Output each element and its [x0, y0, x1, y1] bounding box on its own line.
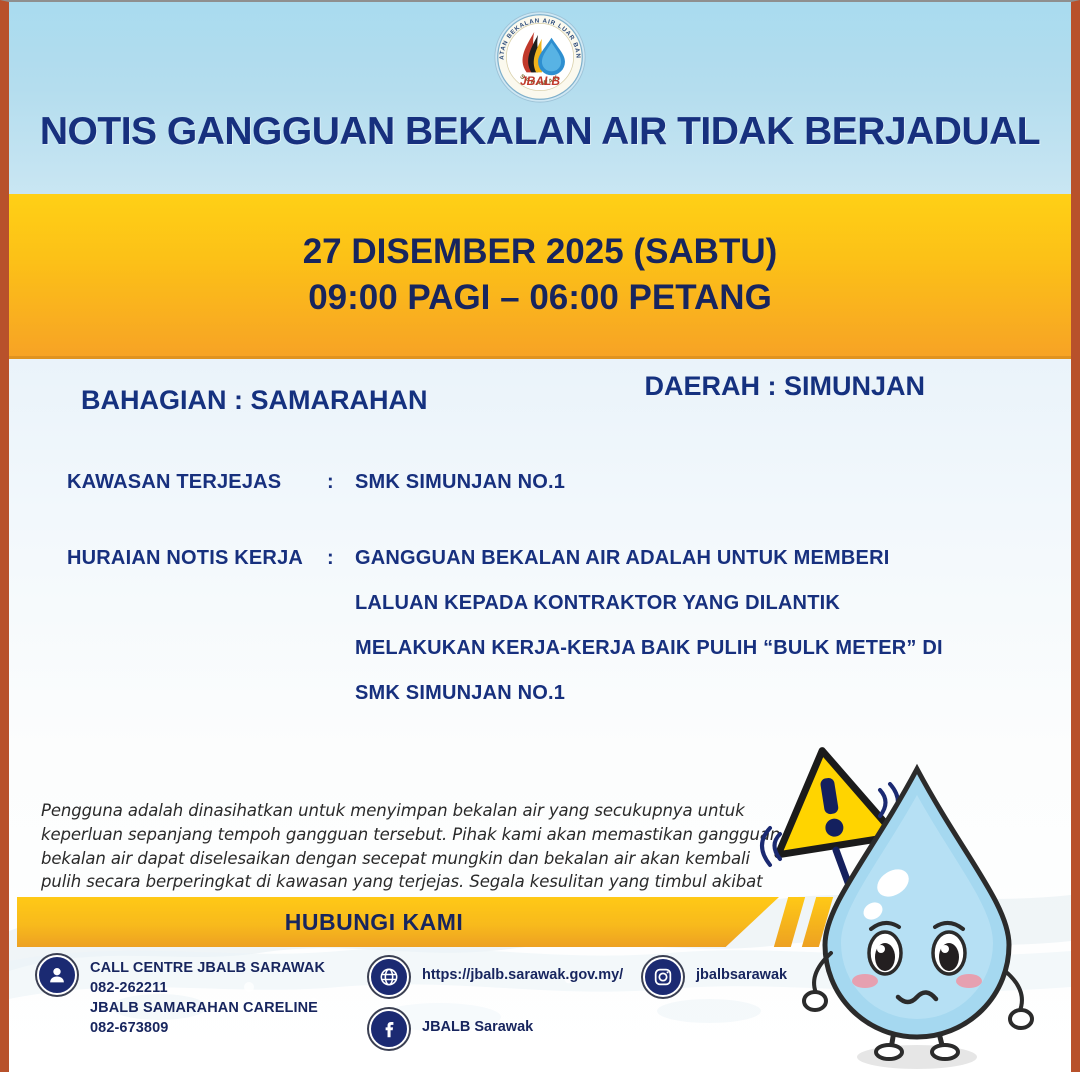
instagram-handle: jbalbsarawak	[696, 957, 787, 983]
work-description-line-2: LALUAN KEPADA KONTRAKTOR YANG DILANTIK	[355, 592, 943, 615]
banner-accent-slash-1	[774, 897, 805, 947]
jbalb-seal-logo: JABATAN BEKALAN AIR LUAR BANDAR SARAWAK …	[492, 8, 588, 106]
affected-area-value: SMK SIMUNJAN NO.1	[355, 471, 565, 494]
globe-icon	[369, 957, 409, 997]
page-title: NOTIS GANGGUAN BEKALAN AIR TIDAK BERJADU…	[9, 110, 1071, 154]
work-description-colon: :	[327, 547, 355, 705]
contact-facebook[interactable]: JBALB Sarawak	[369, 1009, 533, 1049]
contact-instagram[interactable]: jbalbsarawak	[643, 957, 787, 997]
facebook-name: JBALB Sarawak	[422, 1009, 533, 1035]
affected-area-colon: :	[327, 471, 355, 494]
work-description-value-group: GANGGUAN BEKALAN AIR ADALAH UNTUK MEMBER…	[355, 547, 943, 705]
svg-text:JBALB: JBALB	[520, 74, 560, 88]
contact-banner-title: HUBUNGI KAMI	[285, 909, 464, 936]
affected-area-row: KAWASAN TERJEJAS : SMK SIMUNJAN NO.1	[67, 471, 565, 494]
work-description-line-3: MELAKUKAN KERJA-KERJA BAIK PULIH “BULK M…	[355, 637, 943, 660]
facebook-icon	[369, 1009, 409, 1049]
instagram-icon	[643, 957, 683, 997]
call-centre-name: CALL CENTRE JBALB SARAWAK	[90, 959, 325, 978]
work-description-line-4: SMK SIMUNJAN NO.1	[355, 682, 943, 705]
affected-area-label: KAWASAN TERJEJAS	[67, 471, 327, 494]
notice-date: 27 DISEMBER 2025 (SABTU)	[303, 232, 778, 272]
contact-call-centre[interactable]: CALL CENTRE JBALB SARAWAK 082-262211 JBA…	[37, 955, 325, 1039]
website-url: https://jbalb.sarawak.gov.my/	[422, 957, 623, 983]
poster-header: JABATAN BEKALAN AIR LUAR BANDAR SARAWAK …	[9, 2, 1071, 194]
contact-banner-bar: HUBUNGI KAMI	[17, 897, 779, 947]
poster-body: BAHAGIAN : SAMARAHAN DAERAH : SIMUNJAN K…	[9, 359, 1071, 1071]
district-label: DAERAH : SIMUNJAN	[644, 371, 925, 416]
region-row: BAHAGIAN : SAMARAHAN DAERAH : SIMUNJAN	[9, 385, 1071, 416]
contact-website[interactable]: https://jbalb.sarawak.gov.my/	[369, 957, 623, 997]
division-label: BAHAGIAN : SAMARAHAN	[81, 385, 427, 416]
call-centre-lines: CALL CENTRE JBALB SARAWAK 082-262211 JBA…	[90, 955, 325, 1039]
contact-banner: HUBUNGI KAMI	[9, 897, 1071, 949]
notice-poster: JABATAN BEKALAN AIR LUAR BANDAR SARAWAK …	[0, 0, 1080, 1072]
notice-time: 09:00 PAGI – 06:00 PETANG	[308, 278, 772, 318]
work-description-line-1: GANGGUAN BEKALAN AIR ADALAH UNTUK MEMBER…	[355, 547, 943, 570]
banner-accent-slash-2	[802, 897, 833, 947]
call-centre-number: 082-262211	[90, 979, 325, 998]
date-time-band: 27 DISEMBER 2025 (SABTU) 09:00 PAGI – 06…	[9, 194, 1071, 359]
affected-area-value-group: SMK SIMUNJAN NO.1	[355, 471, 565, 494]
contact-details: CALL CENTRE JBALB SARAWAK 082-262211 JBA…	[9, 951, 1071, 1063]
work-description-row: HURAIAN NOTIS KERJA : GANGGUAN BEKALAN A…	[67, 547, 943, 705]
person-icon	[37, 955, 77, 995]
careline-name: JBALB SAMARAHAN CARELINE	[90, 999, 325, 1018]
careline-number: 082-673809	[90, 1019, 325, 1038]
work-description-label: HURAIAN NOTIS KERJA	[67, 547, 327, 705]
